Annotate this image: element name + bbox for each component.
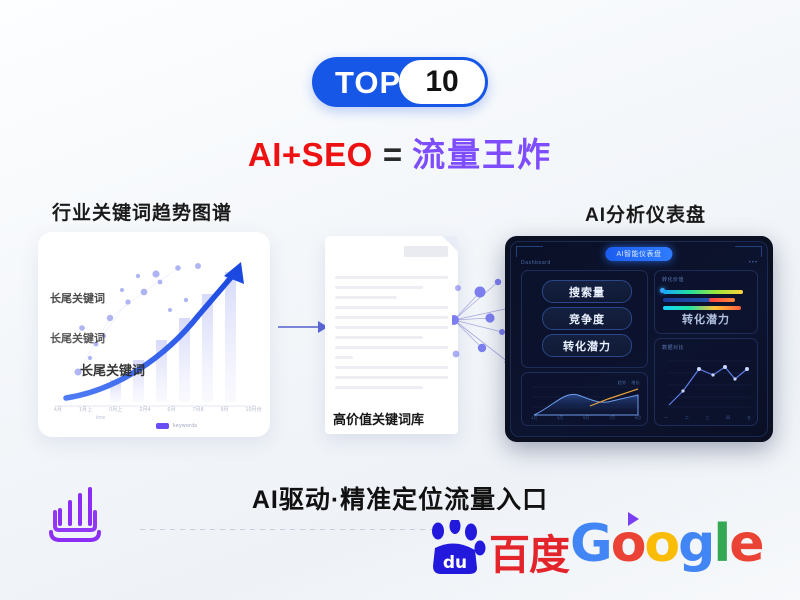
slide-canvas: TOP 10 AI+SEO=流量王炸 行业关键词趋势图谱 AI分析仪表盘 xyxy=(0,0,800,600)
keyword-library-document: 高价值关键词库 xyxy=(325,236,458,434)
x-tick: 四 xyxy=(726,415,730,421)
baidu-text: 百度 xyxy=(489,535,569,576)
doc-line xyxy=(335,306,448,309)
flow-arrow-icon xyxy=(278,318,330,336)
right-section-caption: AI分析仪表盘 xyxy=(585,200,706,227)
doc-line xyxy=(335,276,448,279)
google-logo[interactable]: Google xyxy=(570,518,763,570)
gauge-bar xyxy=(663,290,743,294)
top-label: TOP xyxy=(335,67,401,98)
metric-pill-search-volume[interactable]: 搜索量 xyxy=(542,280,632,303)
google-letter: e xyxy=(729,514,762,574)
hud-corner-left xyxy=(516,246,543,257)
trend-area-panel: 趋势 · 增长 xyxy=(521,372,648,426)
headline-equals: = xyxy=(383,136,402,173)
x-tick: 0月上 xyxy=(109,406,122,413)
x-tick: 二 xyxy=(685,415,689,421)
line-panel-title: 数据对比 xyxy=(662,344,684,351)
google-letter: l xyxy=(713,514,729,574)
x-tick: 三 xyxy=(706,415,710,421)
doc-line xyxy=(335,366,448,369)
doc-header-block xyxy=(404,246,448,257)
trend-annotation-3: 长尾关键词 xyxy=(80,360,145,379)
bottom-tagline: AI驱动·精准定位流量入口 xyxy=(0,480,800,516)
x-tick: 3月 xyxy=(557,415,563,421)
data-comparison-panel: 数据对比 xyxy=(654,338,758,426)
google-letter: o xyxy=(644,514,678,574)
x-tick: 1月 xyxy=(531,415,537,421)
gauge-bar xyxy=(709,298,735,302)
trend-legend: keywords xyxy=(156,423,197,429)
doc-line xyxy=(335,336,423,339)
decorative-dashed-line xyxy=(140,529,440,530)
trend-x-axis: 4月 1月上 0月上 2月4 6月 7月8 9月 10月份 xyxy=(54,406,262,413)
headline-right: 流量王炸 xyxy=(412,136,552,173)
google-letter: g xyxy=(678,514,713,574)
dashboard-screen: AI智能仪表盘 Dashboard ••• 搜索量 竞争度 转化潜力 转化价值 … xyxy=(510,241,768,437)
area-legend: 趋势 · 增长 xyxy=(618,380,640,386)
trend-annotation-1: 长尾关键词 xyxy=(50,290,105,306)
conversion-gauge-panel: 转化价值 转化潜力 xyxy=(654,270,758,334)
x-tick: 6月 xyxy=(168,406,176,413)
legend-swatch-icon xyxy=(156,423,169,429)
gauge-panel-title: 转化价值 xyxy=(662,276,684,283)
x-tick: 2月4 xyxy=(140,406,151,413)
metric-pill-conversion[interactable]: 转化潜力 xyxy=(542,334,632,357)
gauge-bar xyxy=(663,306,741,310)
gauge-overlay-text: 转化潜力 xyxy=(655,311,757,327)
hud-corner-right xyxy=(735,246,762,257)
baidu-paw-icon: du xyxy=(425,520,487,576)
x-tick: 9月 xyxy=(635,415,641,421)
legend-label: keywords xyxy=(173,423,197,429)
x-tick: 7月 xyxy=(609,415,615,421)
trend-annotation-2: 长尾关键词 xyxy=(50,330,105,346)
doc-line xyxy=(335,316,448,319)
x-tick: 5月 xyxy=(583,415,589,421)
rank-number: 10 xyxy=(425,67,458,97)
doc-line xyxy=(335,356,353,359)
google-letter: G xyxy=(570,514,611,574)
doc-text-lines xyxy=(335,276,448,396)
left-section-caption: 行业关键词趋势图谱 xyxy=(52,198,232,225)
doc-line xyxy=(335,386,423,389)
x-tick: 4月 xyxy=(54,406,62,413)
top-rank-badge: TOP 10 xyxy=(312,57,488,107)
x-tick: 7月8 xyxy=(193,406,204,413)
metric-pill-competition[interactable]: 竞争度 xyxy=(542,307,632,330)
ai-dashboard: AI智能仪表盘 Dashboard ••• 搜索量 竞争度 转化潜力 转化价值 … xyxy=(505,236,773,442)
keyword-trend-card: 长尾关键词 长尾关键词 长尾关键词 4月 1月上 0月上 2月4 6月 7月8 … xyxy=(38,232,270,437)
headline-left: AI+SEO xyxy=(248,136,373,173)
bar-chart-pedestal-icon xyxy=(46,482,104,544)
doc-line xyxy=(335,286,423,289)
area-x-axis: 1月 3月 5月 7月 9月 xyxy=(531,415,641,421)
keyword-metrics-panel: 搜索量 竞争度 转化潜力 xyxy=(521,270,648,368)
line-chart-svg xyxy=(655,339,757,425)
x-tick: 1月上 xyxy=(79,406,92,413)
document-caption: 高价值关键词库 xyxy=(333,409,424,428)
doc-line xyxy=(335,326,448,329)
dashboard-subtitle: Dashboard xyxy=(521,260,551,266)
x-tick: 五 xyxy=(747,415,751,421)
doc-line xyxy=(335,346,448,349)
rank-number-circle: 10 xyxy=(399,60,485,104)
dashboard-title-badge: AI智能仪表盘 xyxy=(605,247,672,261)
play-triangle-icon xyxy=(628,512,639,526)
line-x-axis: 一 二 三 四 五 xyxy=(664,415,751,421)
doc-line xyxy=(335,376,448,379)
x-tick: 一 xyxy=(664,415,668,421)
x-tick: 10月份 xyxy=(246,406,262,413)
baidu-du-text: du xyxy=(443,553,467,573)
doc-line xyxy=(335,296,397,299)
x-tick: 9月 xyxy=(221,406,229,413)
baidu-logo[interactable]: du 百度 xyxy=(425,520,569,576)
page-title: AI+SEO=流量王炸 xyxy=(0,128,800,176)
trend-axis-sublabel: time xyxy=(96,415,105,421)
dashboard-menu-icon[interactable]: ••• xyxy=(749,260,758,266)
